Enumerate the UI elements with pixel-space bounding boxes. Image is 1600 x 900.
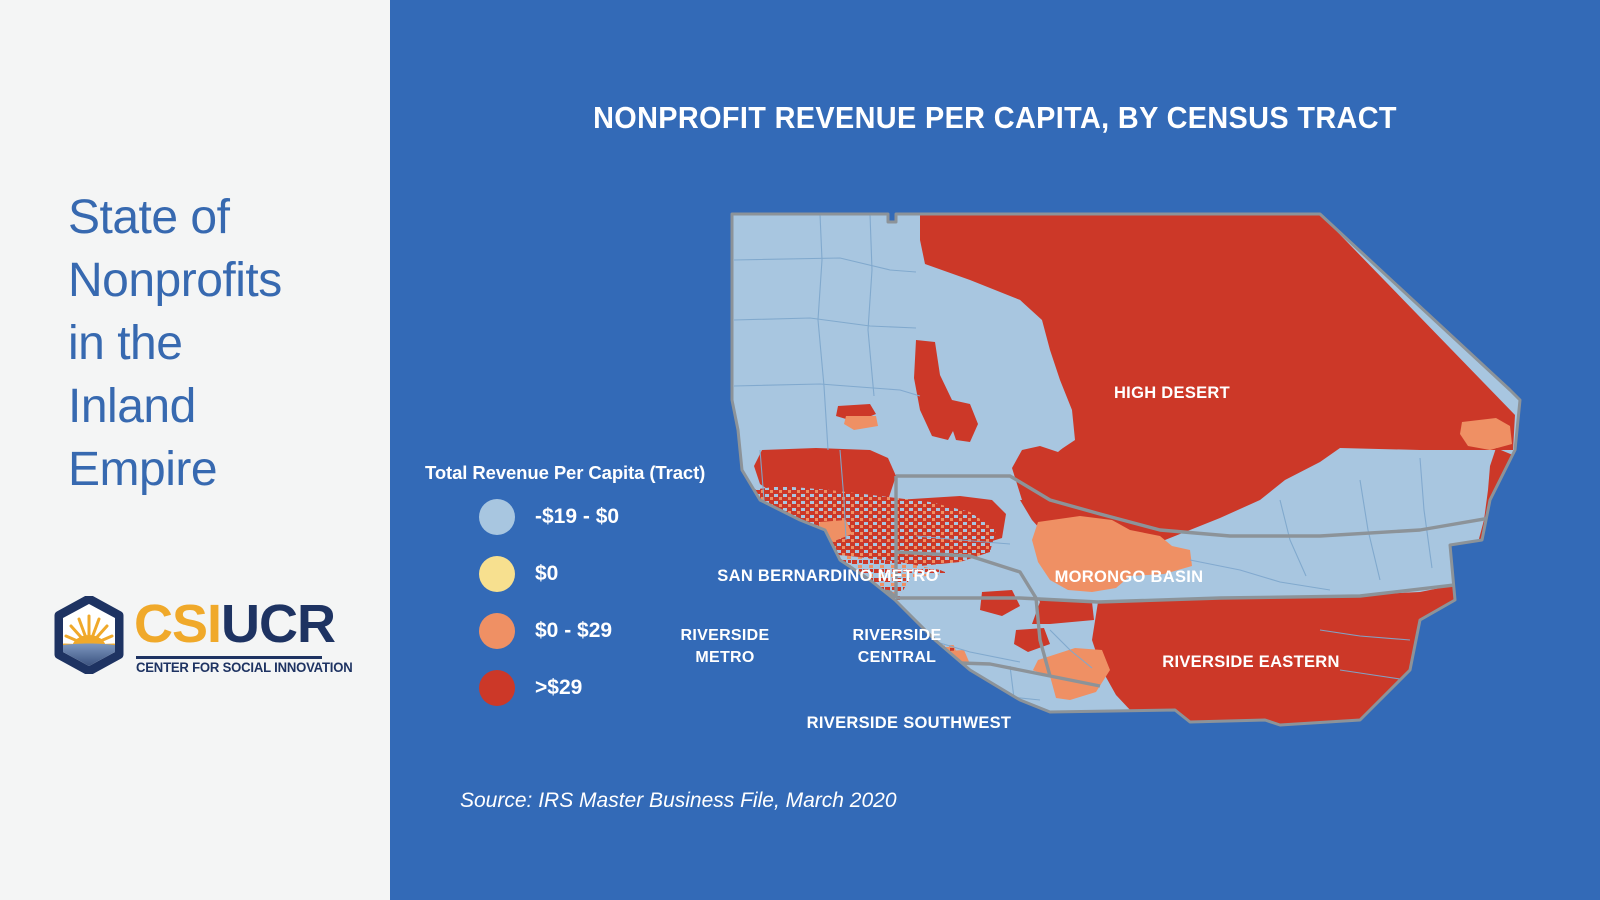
- map-region-label-high-desert: HIGH DESERT: [1114, 384, 1230, 402]
- legend-item[interactable]: -$19 - $0: [425, 496, 705, 538]
- legend-swatch-icon: [479, 613, 515, 649]
- map-geometry: [720, 200, 1530, 760]
- legend-swatch-icon: [479, 556, 515, 592]
- logo-divider: [136, 656, 322, 659]
- legend-swatch-icon: [479, 499, 515, 535]
- legend-title: Total Revenue Per Capita (Tract): [425, 462, 705, 484]
- legend-item[interactable]: $0 - $29: [425, 610, 705, 652]
- map-region-label-riverside-metro-line2: METRO: [695, 649, 754, 666]
- choropleth-map[interactable]: HIGH DESERT MORONGO BASIN SAN BERNARDINO…: [720, 200, 1530, 760]
- page-title: State of Nonprofits in the Inland Empire: [68, 186, 368, 501]
- legend-item-label: $0 - $29: [535, 619, 612, 643]
- map-legend: Total Revenue Per Capita (Tract) -$19 - …: [425, 462, 705, 724]
- source-note: Source: IRS Master Business File, March …: [460, 789, 897, 813]
- left-panel: State of Nonprofits in the Inland Empire: [0, 0, 390, 900]
- map-region-label-riverside-metro-line1: RIVERSIDE: [681, 627, 770, 644]
- logo-csi-text: CSI: [134, 594, 221, 654]
- title-line-1: State of: [68, 186, 368, 249]
- map-region-label-riverside-central-line2: CENTRAL: [858, 649, 937, 666]
- map-title: NONPROFIT REVENUE PER CAPITA, BY CENSUS …: [432, 100, 1557, 136]
- map-region-label-riverside-eastern: RIVERSIDE EASTERN: [1162, 653, 1339, 671]
- map-region-label-riverside-central-line1: RIVERSIDE: [853, 627, 942, 644]
- map-region-label-san-bernardino-metro: SAN BERNARDINO METRO: [717, 567, 938, 585]
- logo-wordmark: CSIUCR: [134, 596, 335, 652]
- logo-tagline: CENTER FOR SOCIAL INNOVATION: [136, 660, 320, 675]
- title-line-5: Empire: [68, 438, 368, 501]
- title-line-3: in the: [68, 312, 368, 375]
- legend-item-label: -$19 - $0: [535, 505, 619, 529]
- legend-swatch-icon: [479, 670, 515, 706]
- map-region-label-morongo-basin: MORONGO BASIN: [1055, 568, 1204, 586]
- legend-item[interactable]: >$29: [425, 667, 705, 709]
- title-line-2: Nonprofits: [68, 249, 368, 312]
- legend-item-label: >$29: [535, 676, 582, 700]
- infographic-page: State of Nonprofits in the Inland Empire: [0, 0, 1600, 900]
- tract-mosaic-southwest-red: [802, 664, 926, 720]
- title-line-4: Inland: [68, 375, 368, 438]
- legend-item-label: $0: [535, 562, 558, 586]
- legend-item[interactable]: $0: [425, 553, 705, 595]
- csi-ucr-logo: CSIUCR CENTER FOR SOCIAL INNOVATION: [52, 594, 322, 678]
- map-panel: NONPROFIT REVENUE PER CAPITA, BY CENSUS …: [390, 0, 1600, 900]
- tract-orange-ne: [1460, 418, 1512, 450]
- tract-blue-inset-se: [1412, 704, 1468, 732]
- logo-ucr-text: UCR: [221, 594, 335, 654]
- hexagon-sun-icon: [52, 596, 126, 674]
- map-svg[interactable]: HIGH DESERT MORONGO BASIN SAN BERNARDINO…: [720, 200, 1530, 760]
- map-region-label-riverside-southwest: RIVERSIDE SOUTHWEST: [807, 714, 1012, 732]
